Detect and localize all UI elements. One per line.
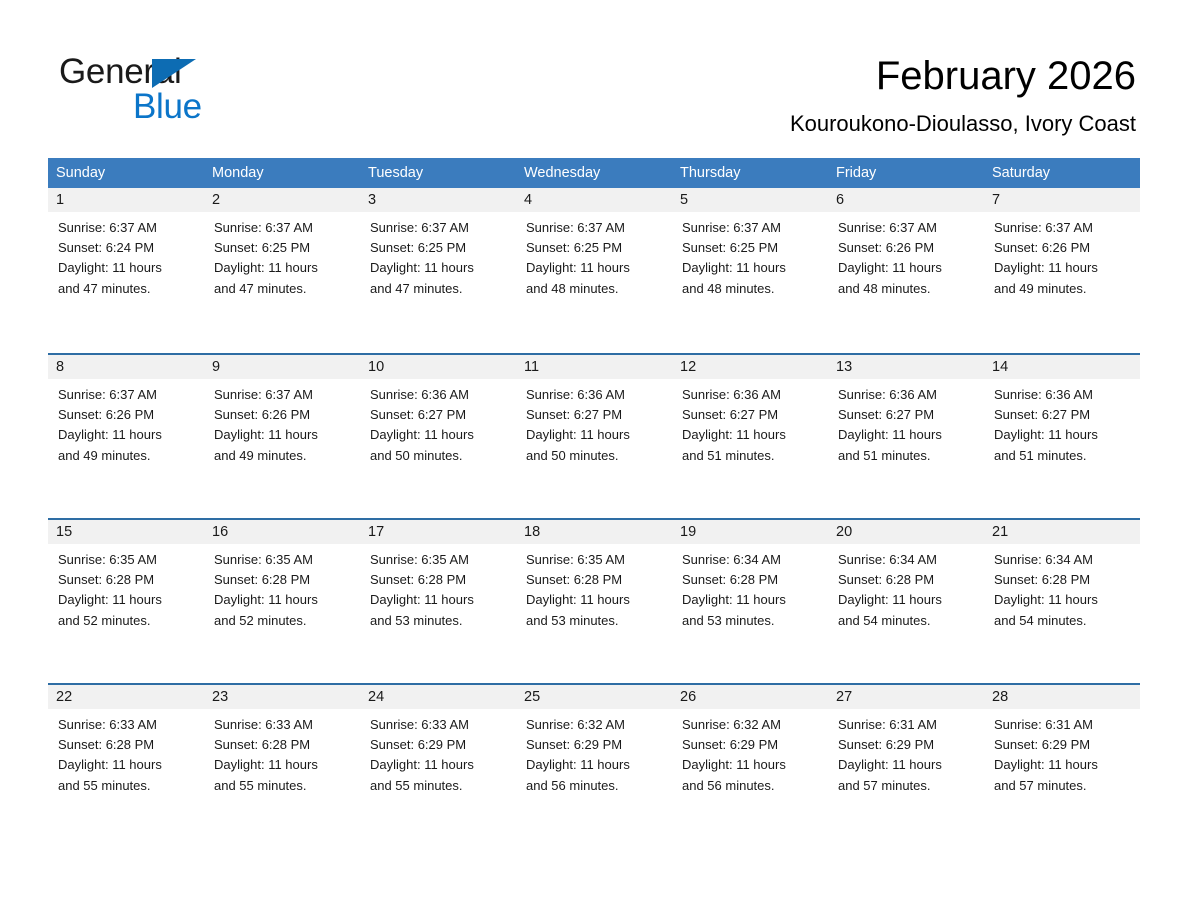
- daylight-line-2: and 54 minutes.: [994, 611, 1134, 631]
- sunrise-line: Sunrise: 6:37 AM: [838, 218, 978, 238]
- page-title: February 2026: [790, 52, 1136, 100]
- daylight-line-1: Daylight: 11 hours: [214, 590, 354, 610]
- sunset-line: Sunset: 6:29 PM: [526, 735, 666, 755]
- day-details: Sunrise: 6:37 AM Sunset: 6:24 PM Dayligh…: [48, 212, 204, 299]
- sunrise-line: Sunrise: 6:36 AM: [526, 385, 666, 405]
- day-cell[interactable]: 11 Sunrise: 6:36 AM Sunset: 6:27 PM Dayl…: [516, 355, 672, 518]
- day-details: Sunrise: 6:35 AM Sunset: 6:28 PM Dayligh…: [360, 544, 516, 631]
- sunset-line: Sunset: 6:28 PM: [682, 570, 822, 590]
- weekday-monday: Monday: [204, 158, 360, 188]
- daylight-line-1: Daylight: 11 hours: [838, 258, 978, 278]
- title-block: February 2026 Kouroukono-Dioulasso, Ivor…: [790, 52, 1136, 138]
- daylight-line-2: and 54 minutes.: [838, 611, 978, 631]
- day-details: Sunrise: 6:33 AM Sunset: 6:29 PM Dayligh…: [360, 709, 516, 796]
- day-cell[interactable]: 20 Sunrise: 6:34 AM Sunset: 6:28 PM Dayl…: [828, 520, 984, 683]
- daylight-line-2: and 51 minutes.: [682, 446, 822, 466]
- daylight-line-1: Daylight: 11 hours: [682, 590, 822, 610]
- day-number: 27: [828, 685, 984, 709]
- day-cell[interactable]: 6 Sunrise: 6:37 AM Sunset: 6:26 PM Dayli…: [828, 188, 984, 353]
- sunset-line: Sunset: 6:27 PM: [526, 405, 666, 425]
- sunrise-line: Sunrise: 6:34 AM: [682, 550, 822, 570]
- sunrise-line: Sunrise: 6:31 AM: [838, 715, 978, 735]
- sunrise-line: Sunrise: 6:32 AM: [526, 715, 666, 735]
- day-details: Sunrise: 6:35 AM Sunset: 6:28 PM Dayligh…: [48, 544, 204, 631]
- daylight-line-2: and 49 minutes.: [58, 446, 198, 466]
- day-details: Sunrise: 6:37 AM Sunset: 6:25 PM Dayligh…: [516, 212, 672, 299]
- sunset-line: Sunset: 6:29 PM: [682, 735, 822, 755]
- day-cell[interactable]: 19 Sunrise: 6:34 AM Sunset: 6:28 PM Dayl…: [672, 520, 828, 683]
- weekday-wednesday: Wednesday: [516, 158, 672, 188]
- weekday-tuesday: Tuesday: [360, 158, 516, 188]
- sunrise-line: Sunrise: 6:34 AM: [994, 550, 1134, 570]
- day-number: 18: [516, 520, 672, 544]
- weekday-header-row: Sunday Monday Tuesday Wednesday Thursday…: [48, 158, 1140, 188]
- sunset-line: Sunset: 6:28 PM: [526, 570, 666, 590]
- daylight-line-2: and 48 minutes.: [838, 279, 978, 299]
- day-details: Sunrise: 6:37 AM Sunset: 6:26 PM Dayligh…: [984, 212, 1140, 299]
- day-number: 8: [48, 355, 204, 379]
- day-number: 7: [984, 188, 1140, 212]
- daylight-line-1: Daylight: 11 hours: [214, 258, 354, 278]
- daylight-line-2: and 57 minutes.: [994, 776, 1134, 796]
- sunrise-line: Sunrise: 6:35 AM: [58, 550, 198, 570]
- daylight-line-1: Daylight: 11 hours: [58, 755, 198, 775]
- day-cell[interactable]: 9 Sunrise: 6:37 AM Sunset: 6:26 PM Dayli…: [204, 355, 360, 518]
- day-cell[interactable]: 17 Sunrise: 6:35 AM Sunset: 6:28 PM Dayl…: [360, 520, 516, 683]
- day-number: 15: [48, 520, 204, 544]
- sunset-line: Sunset: 6:29 PM: [838, 735, 978, 755]
- day-number: 9: [204, 355, 360, 379]
- day-details: Sunrise: 6:37 AM Sunset: 6:25 PM Dayligh…: [672, 212, 828, 299]
- sunrise-line: Sunrise: 6:37 AM: [214, 385, 354, 405]
- sunset-line: Sunset: 6:25 PM: [526, 238, 666, 258]
- day-cell[interactable]: 1 Sunrise: 6:37 AM Sunset: 6:24 PM Dayli…: [48, 188, 204, 353]
- sunset-line: Sunset: 6:28 PM: [838, 570, 978, 590]
- sunrise-line: Sunrise: 6:33 AM: [214, 715, 354, 735]
- daylight-line-2: and 56 minutes.: [526, 776, 666, 796]
- daylight-line-2: and 55 minutes.: [214, 776, 354, 796]
- day-cell[interactable]: 16 Sunrise: 6:35 AM Sunset: 6:28 PM Dayl…: [204, 520, 360, 683]
- sunrise-line: Sunrise: 6:37 AM: [994, 218, 1134, 238]
- sunset-line: Sunset: 6:26 PM: [994, 238, 1134, 258]
- daylight-line-1: Daylight: 11 hours: [682, 425, 822, 445]
- day-details: Sunrise: 6:36 AM Sunset: 6:27 PM Dayligh…: [672, 379, 828, 466]
- daylight-line-1: Daylight: 11 hours: [370, 258, 510, 278]
- day-details: Sunrise: 6:33 AM Sunset: 6:28 PM Dayligh…: [48, 709, 204, 796]
- calendar-grid: Sunday Monday Tuesday Wednesday Thursday…: [48, 158, 1140, 848]
- week-row: 8 Sunrise: 6:37 AM Sunset: 6:26 PM Dayli…: [48, 353, 1140, 518]
- daylight-line-1: Daylight: 11 hours: [526, 590, 666, 610]
- daylight-line-1: Daylight: 11 hours: [994, 755, 1134, 775]
- calendar-page: General Blue February 2026 Kouroukono-Di…: [0, 0, 1188, 918]
- day-cell[interactable]: 8 Sunrise: 6:37 AM Sunset: 6:26 PM Dayli…: [48, 355, 204, 518]
- day-details: Sunrise: 6:31 AM Sunset: 6:29 PM Dayligh…: [984, 709, 1140, 796]
- sunrise-line: Sunrise: 6:35 AM: [370, 550, 510, 570]
- day-number: 11: [516, 355, 672, 379]
- day-cell[interactable]: 18 Sunrise: 6:35 AM Sunset: 6:28 PM Dayl…: [516, 520, 672, 683]
- day-number: 10: [360, 355, 516, 379]
- day-details: Sunrise: 6:35 AM Sunset: 6:28 PM Dayligh…: [204, 544, 360, 631]
- day-number: 17: [360, 520, 516, 544]
- sunrise-line: Sunrise: 6:37 AM: [526, 218, 666, 238]
- sunset-line: Sunset: 6:29 PM: [994, 735, 1134, 755]
- daylight-line-2: and 51 minutes.: [838, 446, 978, 466]
- day-details: Sunrise: 6:36 AM Sunset: 6:27 PM Dayligh…: [360, 379, 516, 466]
- logo-text-blue: Blue: [133, 87, 202, 127]
- sunset-line: Sunset: 6:28 PM: [58, 570, 198, 590]
- sunrise-line: Sunrise: 6:37 AM: [682, 218, 822, 238]
- day-cell[interactable]: 5 Sunrise: 6:37 AM Sunset: 6:25 PM Dayli…: [672, 188, 828, 353]
- day-number: 23: [204, 685, 360, 709]
- sunrise-line: Sunrise: 6:37 AM: [370, 218, 510, 238]
- day-number: 28: [984, 685, 1140, 709]
- daylight-line-2: and 47 minutes.: [370, 279, 510, 299]
- sunrise-line: Sunrise: 6:36 AM: [838, 385, 978, 405]
- daylight-line-2: and 50 minutes.: [526, 446, 666, 466]
- sunset-line: Sunset: 6:25 PM: [682, 238, 822, 258]
- day-details: Sunrise: 6:35 AM Sunset: 6:28 PM Dayligh…: [516, 544, 672, 631]
- daylight-line-1: Daylight: 11 hours: [682, 258, 822, 278]
- sunset-line: Sunset: 6:24 PM: [58, 238, 198, 258]
- day-number: 1: [48, 188, 204, 212]
- daylight-line-1: Daylight: 11 hours: [370, 590, 510, 610]
- sunset-line: Sunset: 6:28 PM: [214, 735, 354, 755]
- daylight-line-1: Daylight: 11 hours: [994, 258, 1134, 278]
- sunrise-line: Sunrise: 6:37 AM: [58, 385, 198, 405]
- sunset-line: Sunset: 6:27 PM: [370, 405, 510, 425]
- daylight-line-1: Daylight: 11 hours: [58, 425, 198, 445]
- daylight-line-2: and 47 minutes.: [58, 279, 198, 299]
- sunrise-line: Sunrise: 6:35 AM: [214, 550, 354, 570]
- day-cell[interactable]: 3 Sunrise: 6:37 AM Sunset: 6:25 PM Dayli…: [360, 188, 516, 353]
- day-details: Sunrise: 6:37 AM Sunset: 6:26 PM Dayligh…: [204, 379, 360, 466]
- daylight-line-1: Daylight: 11 hours: [682, 755, 822, 775]
- day-number: 2: [204, 188, 360, 212]
- day-details: Sunrise: 6:32 AM Sunset: 6:29 PM Dayligh…: [516, 709, 672, 796]
- logo-triangle-icon: [152, 59, 196, 88]
- daylight-line-1: Daylight: 11 hours: [838, 425, 978, 445]
- daylight-line-2: and 53 minutes.: [526, 611, 666, 631]
- daylight-line-2: and 52 minutes.: [58, 611, 198, 631]
- weekday-friday: Friday: [828, 158, 984, 188]
- day-details: Sunrise: 6:34 AM Sunset: 6:28 PM Dayligh…: [672, 544, 828, 631]
- day-cell[interactable]: 28 Sunrise: 6:31 AM Sunset: 6:29 PM Dayl…: [984, 685, 1140, 848]
- day-number: 12: [672, 355, 828, 379]
- day-number: 20: [828, 520, 984, 544]
- daylight-line-2: and 51 minutes.: [994, 446, 1134, 466]
- day-details: Sunrise: 6:37 AM Sunset: 6:26 PM Dayligh…: [828, 212, 984, 299]
- generalblue-logo[interactable]: General Blue: [59, 52, 359, 122]
- daylight-line-2: and 49 minutes.: [214, 446, 354, 466]
- daylight-line-1: Daylight: 11 hours: [526, 755, 666, 775]
- daylight-line-2: and 48 minutes.: [526, 279, 666, 299]
- day-cell[interactable]: 27 Sunrise: 6:31 AM Sunset: 6:29 PM Dayl…: [828, 685, 984, 848]
- day-details: Sunrise: 6:37 AM Sunset: 6:26 PM Dayligh…: [48, 379, 204, 466]
- sunset-line: Sunset: 6:27 PM: [682, 405, 822, 425]
- day-cell[interactable]: 26 Sunrise: 6:32 AM Sunset: 6:29 PM Dayl…: [672, 685, 828, 848]
- sunset-line: Sunset: 6:27 PM: [838, 405, 978, 425]
- sunset-line: Sunset: 6:26 PM: [838, 238, 978, 258]
- page-subtitle: Kouroukono-Dioulasso, Ivory Coast: [790, 110, 1136, 138]
- day-cell[interactable]: 23 Sunrise: 6:33 AM Sunset: 6:28 PM Dayl…: [204, 685, 360, 848]
- daylight-line-1: Daylight: 11 hours: [838, 590, 978, 610]
- week-row: 15 Sunrise: 6:35 AM Sunset: 6:28 PM Dayl…: [48, 518, 1140, 683]
- day-cell[interactable]: 25 Sunrise: 6:32 AM Sunset: 6:29 PM Dayl…: [516, 685, 672, 848]
- daylight-line-1: Daylight: 11 hours: [214, 425, 354, 445]
- week-row: 1 Sunrise: 6:37 AM Sunset: 6:24 PM Dayli…: [48, 188, 1140, 353]
- daylight-line-1: Daylight: 11 hours: [370, 425, 510, 445]
- sunset-line: Sunset: 6:28 PM: [370, 570, 510, 590]
- day-cell[interactable]: 4 Sunrise: 6:37 AM Sunset: 6:25 PM Dayli…: [516, 188, 672, 353]
- daylight-line-1: Daylight: 11 hours: [214, 755, 354, 775]
- daylight-line-1: Daylight: 11 hours: [838, 755, 978, 775]
- sunset-line: Sunset: 6:28 PM: [58, 735, 198, 755]
- sunset-line: Sunset: 6:27 PM: [994, 405, 1134, 425]
- sunrise-line: Sunrise: 6:33 AM: [370, 715, 510, 735]
- day-details: Sunrise: 6:37 AM Sunset: 6:25 PM Dayligh…: [360, 212, 516, 299]
- day-details: Sunrise: 6:34 AM Sunset: 6:28 PM Dayligh…: [828, 544, 984, 631]
- weekday-thursday: Thursday: [672, 158, 828, 188]
- daylight-line-2: and 53 minutes.: [682, 611, 822, 631]
- sunrise-line: Sunrise: 6:36 AM: [994, 385, 1134, 405]
- daylight-line-2: and 47 minutes.: [214, 279, 354, 299]
- sunrise-line: Sunrise: 6:33 AM: [58, 715, 198, 735]
- sunrise-line: Sunrise: 6:31 AM: [994, 715, 1134, 735]
- day-details: Sunrise: 6:33 AM Sunset: 6:28 PM Dayligh…: [204, 709, 360, 796]
- day-details: Sunrise: 6:37 AM Sunset: 6:25 PM Dayligh…: [204, 212, 360, 299]
- daylight-line-2: and 55 minutes.: [370, 776, 510, 796]
- day-cell[interactable]: 22 Sunrise: 6:33 AM Sunset: 6:28 PM Dayl…: [48, 685, 204, 848]
- sunset-line: Sunset: 6:28 PM: [214, 570, 354, 590]
- day-cell[interactable]: 14 Sunrise: 6:36 AM Sunset: 6:27 PM Dayl…: [984, 355, 1140, 518]
- sunrise-line: Sunrise: 6:35 AM: [526, 550, 666, 570]
- daylight-line-2: and 49 minutes.: [994, 279, 1134, 299]
- day-details: Sunrise: 6:34 AM Sunset: 6:28 PM Dayligh…: [984, 544, 1140, 631]
- day-cell[interactable]: 15 Sunrise: 6:35 AM Sunset: 6:28 PM Dayl…: [48, 520, 204, 683]
- day-number: 5: [672, 188, 828, 212]
- day-number: 21: [984, 520, 1140, 544]
- daylight-line-2: and 56 minutes.: [682, 776, 822, 796]
- sunrise-line: Sunrise: 6:34 AM: [838, 550, 978, 570]
- sunset-line: Sunset: 6:26 PM: [58, 405, 198, 425]
- daylight-line-1: Daylight: 11 hours: [526, 425, 666, 445]
- sunrise-line: Sunrise: 6:36 AM: [370, 385, 510, 405]
- sunrise-line: Sunrise: 6:37 AM: [58, 218, 198, 238]
- day-details: Sunrise: 6:32 AM Sunset: 6:29 PM Dayligh…: [672, 709, 828, 796]
- week-row: 22 Sunrise: 6:33 AM Sunset: 6:28 PM Dayl…: [48, 683, 1140, 848]
- sunrise-line: Sunrise: 6:36 AM: [682, 385, 822, 405]
- day-number: 6: [828, 188, 984, 212]
- daylight-line-1: Daylight: 11 hours: [58, 258, 198, 278]
- day-cell[interactable]: 2 Sunrise: 6:37 AM Sunset: 6:25 PM Dayli…: [204, 188, 360, 353]
- day-number: 22: [48, 685, 204, 709]
- weekday-sunday: Sunday: [48, 158, 204, 188]
- sunset-line: Sunset: 6:25 PM: [370, 238, 510, 258]
- day-number: 26: [672, 685, 828, 709]
- sunrise-line: Sunrise: 6:32 AM: [682, 715, 822, 735]
- day-number: 19: [672, 520, 828, 544]
- day-details: Sunrise: 6:36 AM Sunset: 6:27 PM Dayligh…: [516, 379, 672, 466]
- sunset-line: Sunset: 6:28 PM: [994, 570, 1134, 590]
- day-cell[interactable]: 13 Sunrise: 6:36 AM Sunset: 6:27 PM Dayl…: [828, 355, 984, 518]
- daylight-line-2: and 53 minutes.: [370, 611, 510, 631]
- daylight-line-2: and 48 minutes.: [682, 279, 822, 299]
- daylight-line-1: Daylight: 11 hours: [58, 590, 198, 610]
- day-number: 3: [360, 188, 516, 212]
- sunset-line: Sunset: 6:29 PM: [370, 735, 510, 755]
- daylight-line-2: and 55 minutes.: [58, 776, 198, 796]
- day-details: Sunrise: 6:36 AM Sunset: 6:27 PM Dayligh…: [828, 379, 984, 466]
- daylight-line-1: Daylight: 11 hours: [370, 755, 510, 775]
- day-cell[interactable]: 10 Sunrise: 6:36 AM Sunset: 6:27 PM Dayl…: [360, 355, 516, 518]
- day-cell[interactable]: 7 Sunrise: 6:37 AM Sunset: 6:26 PM Dayli…: [984, 188, 1140, 353]
- sunset-line: Sunset: 6:26 PM: [214, 405, 354, 425]
- daylight-line-2: and 57 minutes.: [838, 776, 978, 796]
- day-number: 14: [984, 355, 1140, 379]
- page-header: General Blue February 2026 Kouroukono-Di…: [0, 0, 1188, 150]
- sunrise-line: Sunrise: 6:37 AM: [214, 218, 354, 238]
- daylight-line-2: and 52 minutes.: [214, 611, 354, 631]
- daylight-line-1: Daylight: 11 hours: [994, 425, 1134, 445]
- day-number: 4: [516, 188, 672, 212]
- sunset-line: Sunset: 6:25 PM: [214, 238, 354, 258]
- daylight-line-1: Daylight: 11 hours: [994, 590, 1134, 610]
- daylight-line-2: and 50 minutes.: [370, 446, 510, 466]
- day-number: 16: [204, 520, 360, 544]
- day-number: 25: [516, 685, 672, 709]
- day-cell[interactable]: 24 Sunrise: 6:33 AM Sunset: 6:29 PM Dayl…: [360, 685, 516, 848]
- weekday-saturday: Saturday: [984, 158, 1140, 188]
- day-cell[interactable]: 21 Sunrise: 6:34 AM Sunset: 6:28 PM Dayl…: [984, 520, 1140, 683]
- day-number: 13: [828, 355, 984, 379]
- day-details: Sunrise: 6:31 AM Sunset: 6:29 PM Dayligh…: [828, 709, 984, 796]
- day-cell[interactable]: 12 Sunrise: 6:36 AM Sunset: 6:27 PM Dayl…: [672, 355, 828, 518]
- day-number: 24: [360, 685, 516, 709]
- daylight-line-1: Daylight: 11 hours: [526, 258, 666, 278]
- day-details: Sunrise: 6:36 AM Sunset: 6:27 PM Dayligh…: [984, 379, 1140, 466]
